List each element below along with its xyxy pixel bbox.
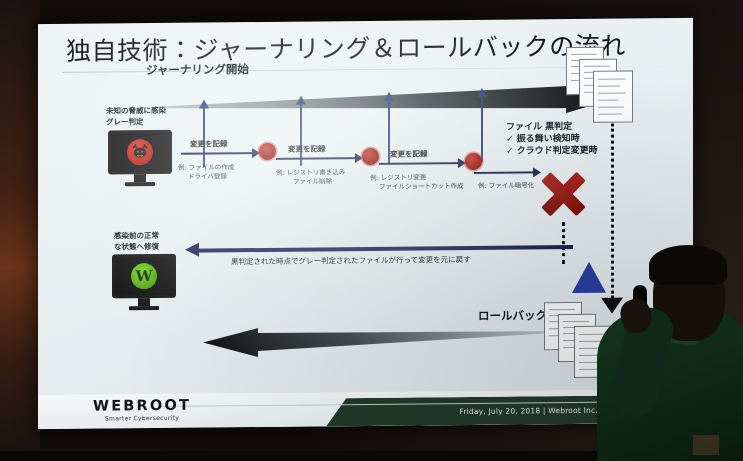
restored-label-line1: 感染前の正常 (114, 231, 159, 241)
example-3-line1: 例: レジストリ変更 (370, 173, 426, 182)
infected-label-line2: グレー判定 (106, 117, 144, 127)
infected-monitor-icon (108, 130, 172, 187)
verdict-item-2: ✓ クラウド判定変更時 (506, 146, 598, 158)
journal-document-stack (566, 46, 636, 122)
monitor-base (125, 182, 155, 186)
journal-tick-1 (203, 108, 205, 168)
rollback-document-stack (544, 302, 624, 379)
record-label-1: 変更を記録 (190, 139, 228, 149)
projected-slide: 独自技術：ジャーナリング＆ロールバックの流れ ジャーナリング開始 (38, 18, 693, 429)
change-dot-2 (362, 148, 379, 165)
slide-footer: WEBROOT Smarter Cybersecurity Friday, Ju… (38, 389, 693, 429)
black-verdict-x-icon (538, 169, 588, 219)
journaling-start-label: ジャーナリング開始 (146, 62, 249, 78)
rollback-arrow-caption: 黒判定された時点でグレー判定されたファイルが行って変更を元に戻す (231, 255, 471, 267)
record-label-3: 変更を記録 (390, 149, 428, 159)
infected-label-line1: 未知の脅威に感染 (106, 106, 166, 116)
journal-guide-dotted-line (611, 124, 614, 299)
monitor-base-restored (129, 306, 159, 310)
devil-icon (131, 144, 149, 160)
monitor-stand-restored (138, 298, 150, 306)
malware-badge (127, 139, 153, 165)
rollback-arrow (203, 325, 588, 359)
verdict-item-1: ✓ 振る舞い検知時 (506, 134, 580, 146)
change-dot-1 (259, 143, 276, 160)
example-1-line1: 例: ファイルの作成 (178, 163, 234, 172)
rollback-trigger-triangle (572, 262, 606, 293)
example-2-line2: ファイル削除 (293, 177, 332, 186)
journal-tick-4 (481, 96, 483, 162)
example-3-line2: ファイルショートカット作成 (379, 182, 464, 191)
monitor-stand (134, 174, 146, 182)
verdict-guide-dotted-line (562, 222, 565, 264)
floor-edge (0, 451, 743, 461)
record-arrow-3 (379, 162, 459, 165)
example-2-line1: 例: レジストリ書き込み (276, 168, 345, 177)
journal-tick-2 (300, 104, 302, 166)
monitor-screen-restored: W (112, 254, 176, 299)
restored-monitor-icon: W (112, 254, 176, 311)
rollback-restore-arrow (198, 245, 573, 253)
example-1-line2: ドライバ登録 (188, 172, 227, 181)
webroot-badge: W (131, 263, 157, 289)
webroot-logo: WEBROOT Smarter Cybersecurity (93, 398, 191, 423)
example-4-line1: 例: ファイル暗号化 (478, 181, 534, 190)
verdict-heading: ファイル 黒判定 (506, 122, 572, 134)
record-arrow-4 (474, 171, 534, 174)
record-arrow-1 (181, 152, 253, 155)
record-label-2: 変更を記録 (288, 144, 326, 154)
webroot-logo-tagline: Smarter Cybersecurity (93, 415, 191, 423)
change-dot-3 (465, 153, 482, 170)
record-arrow-2 (276, 157, 356, 160)
restored-label-line2: な状態へ修復 (114, 242, 159, 252)
monitor-screen (108, 130, 172, 175)
webroot-logo-name: WEBROOT (93, 398, 191, 415)
